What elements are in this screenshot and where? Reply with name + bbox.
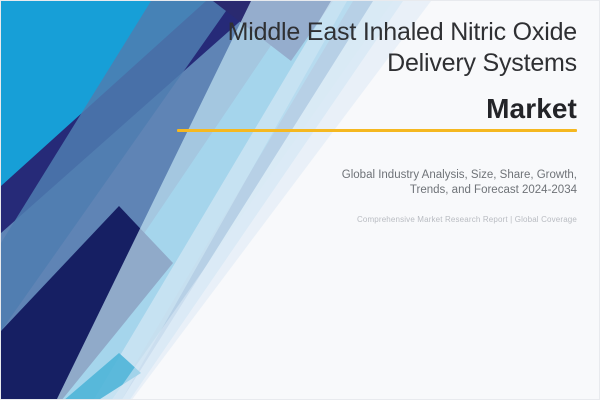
market-heading-label: Market xyxy=(486,93,577,129)
report-subtitle: Global Industry Analysis, Size, Share, G… xyxy=(177,168,577,198)
report-subtitle-line-1: Global Industry Analysis, Size, Share, G… xyxy=(177,168,577,183)
page-title: Middle East Inhaled Nitric Oxide Deliver… xyxy=(177,17,577,79)
cover-text-block: Middle East Inhaled Nitric Oxide Deliver… xyxy=(177,17,577,225)
market-heading: Market xyxy=(177,93,577,132)
page-title-line-2: Delivery Systems xyxy=(177,48,577,79)
report-tagline: Comprehensive Market Research Report | G… xyxy=(177,214,577,225)
report-subtitle-line-2: Trends, and Forecast 2024-2034 xyxy=(177,183,577,198)
page-title-line-1: Middle East Inhaled Nitric Oxide xyxy=(177,17,577,48)
report-cover: Middle East Inhaled Nitric Oxide Deliver… xyxy=(0,0,600,400)
market-accent-underline xyxy=(177,129,577,132)
